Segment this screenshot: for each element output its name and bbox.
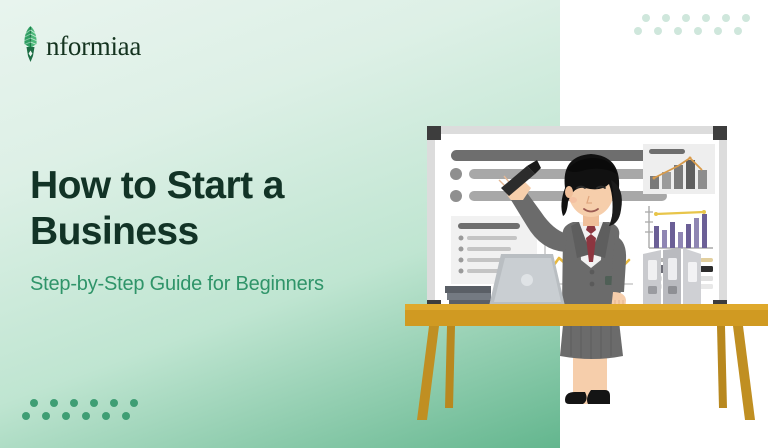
hero-text-block: How to Start a Business Step-by-Step Gui… bbox=[30, 163, 450, 297]
dot bbox=[682, 14, 690, 22]
dot bbox=[654, 27, 662, 35]
dot bbox=[662, 14, 670, 22]
whiteboard-bar-chart-card bbox=[643, 144, 715, 194]
page-title: How to Start a Business bbox=[30, 163, 450, 255]
dot bbox=[102, 412, 110, 420]
dot bbox=[50, 399, 58, 407]
dot bbox=[130, 399, 138, 407]
dot bbox=[42, 412, 50, 420]
dot bbox=[722, 14, 730, 22]
desk-binders bbox=[643, 248, 701, 304]
dot bbox=[70, 399, 78, 407]
brand-name: nformiaa bbox=[46, 29, 141, 60]
dot-row bbox=[22, 412, 138, 420]
dot bbox=[634, 27, 642, 35]
dot-row bbox=[634, 27, 750, 35]
dot bbox=[122, 412, 130, 420]
dot-grid-bottom-left bbox=[30, 399, 138, 420]
dot bbox=[702, 14, 710, 22]
dot bbox=[734, 27, 742, 35]
dot bbox=[714, 27, 722, 35]
page-subtitle: Step-by-Step Guide for Beginners bbox=[30, 271, 450, 297]
dot bbox=[110, 399, 118, 407]
business-presentation-illustration bbox=[405, 108, 768, 448]
dot bbox=[642, 14, 650, 22]
dot-grid-top-right bbox=[642, 14, 750, 35]
hero-banner: nformiaa How to Start a Business Step-by… bbox=[0, 0, 768, 448]
dot bbox=[694, 27, 702, 35]
dot bbox=[22, 412, 30, 420]
dot bbox=[82, 412, 90, 420]
dot bbox=[62, 412, 70, 420]
dot bbox=[674, 27, 682, 35]
feather-quill-icon bbox=[16, 22, 46, 66]
dot-row bbox=[642, 14, 750, 22]
dot-row bbox=[30, 399, 138, 407]
dot bbox=[742, 14, 750, 22]
dot bbox=[30, 399, 38, 407]
brand-logo[interactable]: nformiaa bbox=[16, 22, 141, 66]
dot bbox=[90, 399, 98, 407]
